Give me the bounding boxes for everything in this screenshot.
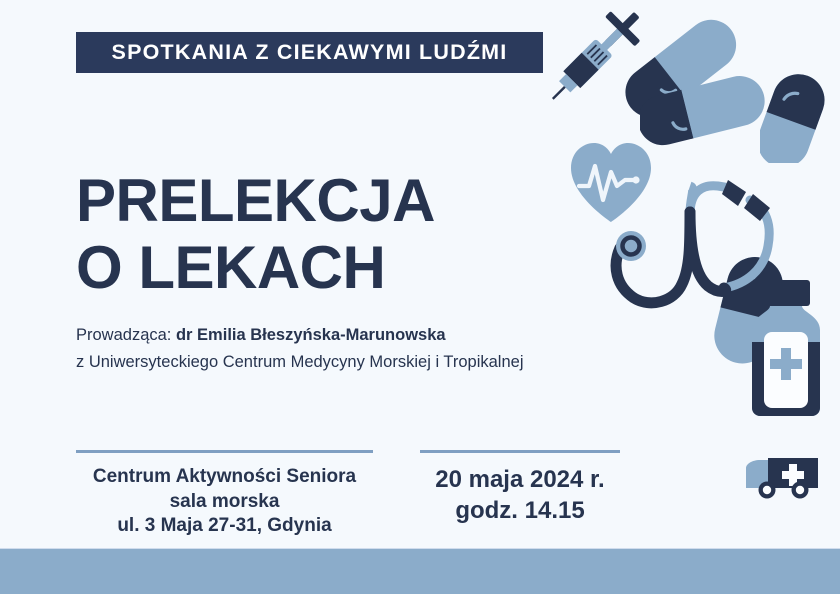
ambulance-icon [742,450,822,504]
datetime-text: 20 maja 2024 r. godz. 14.15 [420,465,620,526]
stethoscope-icon [590,162,795,317]
date-line: 20 maja 2024 r. [420,465,620,496]
venue-text: Centrum Aktywności Seniora sala morska u… [76,465,373,539]
capsule-pill-icon [640,55,785,165]
capsule-pill-icon [695,245,825,375]
venue-line-2: sala morska [76,490,373,515]
event-series-banner: SPOTKANIA Z CIEKAWYMI LUDŹMI [76,32,543,73]
venue-line-1: Centrum Aktywności Seniora [76,465,373,490]
page-title: PRELEKCJA O LEKACH [76,167,536,301]
presenter-prefix-label: Prowadząca: [76,326,176,344]
presenter-block: Prowadząca: dr Emilia Błeszyńska-Marunow… [76,322,596,375]
footer-bar [0,548,840,594]
presenter-line: Prowadząca: dr Emilia Błeszyńska-Marunow… [76,322,596,349]
venue-line-3: ul. 3 Maja 27-31, Gdynia [76,514,373,539]
title-line-1: PRELEKCJA [76,167,435,234]
medicine-bottle-icon [742,280,832,420]
time-line: godz. 14.15 [420,496,620,527]
presenter-affiliation: z Uniwersyteckiego Centrum Medycyny Mors… [76,349,596,376]
capsule-pill-icon [625,0,755,120]
datetime-block: 20 maja 2024 r. godz. 14.15 [420,450,620,526]
venue-block: Centrum Aktywności Seniora sala morska u… [76,450,373,539]
divider [76,450,373,453]
event-series-label: SPOTKANIA Z CIEKAWYMI LUDŹMI [112,40,508,65]
capsule-pill-icon [760,68,840,163]
presenter-name: dr Emilia Błeszyńska-Marunowska [176,326,446,344]
poster-canvas: SPOTKANIA Z CIEKAWYMI LUDŹMI PRELEKCJA O… [0,0,840,594]
heart-pulse-icon [565,138,657,226]
title-line-2: O LEKACH [76,234,536,301]
syringe-icon [540,0,670,125]
divider [420,450,620,453]
